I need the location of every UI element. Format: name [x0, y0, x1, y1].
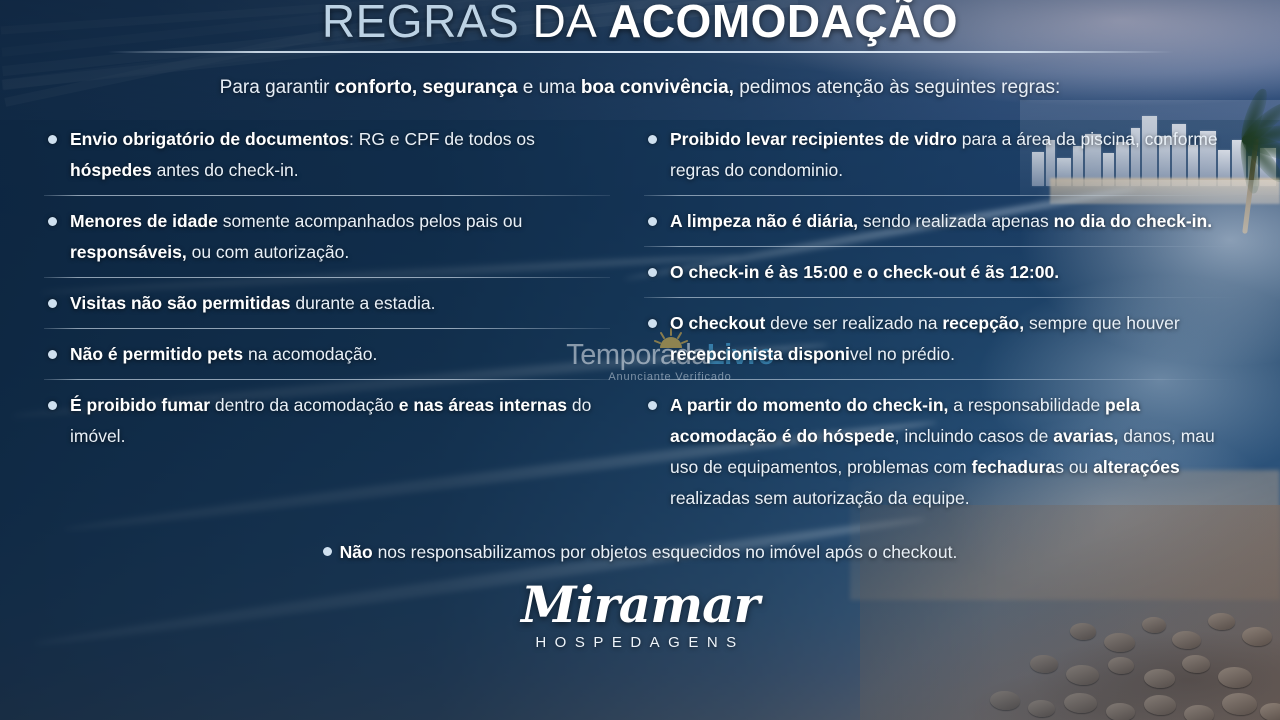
rule-item: A partir do momento do check-in, a respo…: [644, 390, 1240, 514]
rule-bold-3: recepcionista disponi: [670, 344, 850, 364]
rule-text-1: durante a estadia.: [290, 293, 435, 313]
final-disclaimer: Não nos responsabilizamos por objetos es…: [0, 539, 1280, 565]
rule-text-4: s ou: [1055, 457, 1093, 477]
bullet-dot-icon: [648, 401, 657, 410]
bullet-dot-icon: [323, 547, 332, 556]
title-part-da: DA: [519, 0, 608, 47]
bullet-dot-icon: [648, 217, 657, 226]
final-note-bold: Não: [340, 542, 373, 562]
rule-divider: [644, 379, 1240, 380]
rule-bold-2: recepção,: [942, 313, 1024, 333]
rule-bold-1: Proibido levar recipientes de vidro: [670, 129, 957, 149]
bullet-dot-icon: [48, 350, 57, 359]
rule-text-1: somente acompanhados pelos pais ou: [218, 211, 523, 231]
rule-text-1: : RG e CPF de todos os: [349, 129, 535, 149]
rule-divider: [44, 379, 610, 380]
rule-text-1: na acomodação.: [243, 344, 377, 364]
rule-divider: [44, 328, 610, 329]
rule-bold-1: O check-in é às 15:00 e o check-out é ãs…: [670, 262, 1059, 282]
rule-item: Envio obrigatório de documentos: RG e CP…: [44, 124, 610, 186]
subtitle-bold-2: boa convivência,: [581, 77, 734, 98]
rule-text-1: sendo realizada apenas: [858, 211, 1054, 231]
rule-bold-4: fechadura: [972, 457, 1056, 477]
rule-bold-3: avarias,: [1053, 426, 1118, 446]
bullet-dot-icon: [648, 268, 657, 277]
rule-divider: [44, 195, 610, 196]
rule-bold-5: alteraçóes: [1093, 457, 1180, 477]
subtitle-seg-3: pedimos atenção às seguintes regras:: [734, 77, 1060, 98]
rule-bold-1: Envio obrigatório de documentos: [70, 129, 349, 149]
rule-text-2: sempre que houver: [1024, 313, 1180, 333]
rule-item: A limpeza não é diária, sendo realizada …: [644, 206, 1240, 237]
bullet-dot-icon: [48, 217, 57, 226]
bullet-dot-icon: [48, 299, 57, 308]
rule-item: É proibido fumar dentro da acomodação e …: [44, 390, 610, 452]
rule-divider: [644, 195, 1240, 196]
rule-bold-1: A limpeza não é diária,: [670, 211, 858, 231]
rule-text-2: , incluindo casos de: [895, 426, 1054, 446]
rule-bold-1: Visitas não são permitidas: [70, 293, 290, 313]
rule-text-2: ou com autorização.: [187, 242, 349, 262]
rule-divider: [644, 246, 1240, 247]
logo-wordmark: Miramar: [0, 578, 1280, 632]
bullet-dot-icon: [48, 135, 57, 144]
rule-bold-1: Não é permitido pets: [70, 344, 243, 364]
subtitle-seg-1: Para garantir: [220, 77, 335, 98]
rules-column-right: Proibido levar recipientes de vidro para…: [644, 124, 1240, 514]
rule-bold-1: O checkout: [670, 313, 765, 333]
page-title: REGRAS DA ACOMODAÇÃO: [0, 0, 1280, 46]
brand-logo: Miramar HOSPEDAGENS: [0, 578, 1280, 651]
title-divider: [108, 51, 1174, 53]
rule-bold-2: responsáveis,: [70, 242, 187, 262]
bullet-dot-icon: [648, 135, 657, 144]
title-part-acomodacao: ACOMODAÇÃO: [608, 0, 958, 47]
rule-bold-2: e nas áreas internas: [399, 395, 567, 415]
rule-item: Menores de idade somente acompanhados pe…: [44, 206, 610, 268]
rule-divider: [644, 297, 1240, 298]
final-note-text: nos responsabilizamos por objetos esquec…: [373, 542, 958, 562]
rule-bold-2: hóspedes: [70, 160, 152, 180]
rule-bold-2: no dia do check-in.: [1054, 211, 1213, 231]
rule-text-1: a responsabilidade: [948, 395, 1105, 415]
title-part-regras: REGRAS: [322, 0, 519, 47]
accommodation-rules-poster: TemporadaLivre Anunciante Verificado REG…: [0, 0, 1280, 720]
rule-text-1: dentro da acomodação: [210, 395, 399, 415]
page-subtitle: Para garantir conforto, segurança e uma …: [0, 75, 1280, 101]
bullet-dot-icon: [48, 401, 57, 410]
rule-item: Visitas não são permitidas durante a est…: [44, 288, 610, 319]
rule-text-5: realizadas sem autorização da equipe.: [670, 488, 970, 508]
rule-text-2: antes do check-in.: [152, 160, 299, 180]
rule-text-3: vel no prédio.: [850, 344, 955, 364]
rule-divider: [44, 277, 610, 278]
subtitle-bold-1: conforto, segurança: [335, 77, 518, 98]
rule-item: Não é permitido pets na acomodação.: [44, 339, 610, 370]
rules-column-left: Envio obrigatório de documentos: RG e CP…: [44, 124, 610, 452]
rule-bold-1: É proibido fumar: [70, 395, 210, 415]
rule-text-1: deve ser realizado na: [765, 313, 942, 333]
rule-item: O checkout deve ser realizado na recepçã…: [644, 308, 1240, 370]
rule-item: Proibido levar recipientes de vidro para…: [644, 124, 1240, 186]
rule-bold-1: A partir do momento do check-in,: [670, 395, 948, 415]
bullet-dot-icon: [648, 319, 657, 328]
subtitle-seg-2: e uma: [517, 77, 580, 98]
logo-tagline: HOSPEDAGENS: [0, 634, 1280, 651]
rule-bold-1: Menores de idade: [70, 211, 218, 231]
rule-item: O check-in é às 15:00 e o check-out é ãs…: [644, 257, 1240, 288]
